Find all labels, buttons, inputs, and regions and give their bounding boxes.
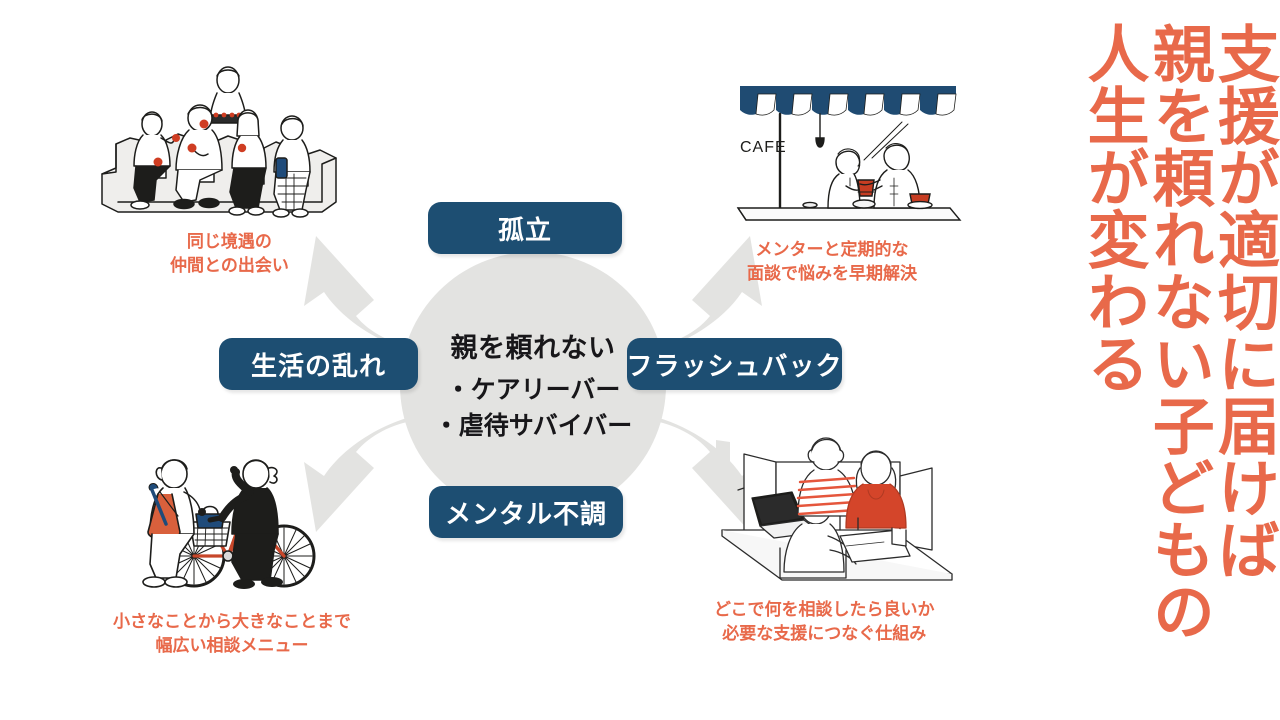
- solution-caption-top-left: 同じ境遇の 仲間との出会い: [170, 230, 289, 278]
- cafe-meeting-illustration: CAFE: [724, 74, 972, 229]
- slide-canvas: CAFE: [0, 0, 1280, 720]
- problem-pill-lifestyle-label: 生活の乱れ: [251, 346, 386, 383]
- solution-caption-top-right-line1: メンターと定期的な: [747, 238, 917, 262]
- problem-pill-flashback-label: フラッシュバック: [627, 346, 843, 383]
- cafe-awning: [740, 86, 956, 115]
- solution-caption-top-right: メンターと定期的な 面談で悩みを早期解決: [747, 238, 917, 286]
- problem-pill-isolation[interactable]: 孤立: [428, 202, 622, 254]
- cafe-sign-text: CAFE: [740, 139, 787, 156]
- solution-caption-top-left-line2: 仲間との出会い: [170, 254, 289, 278]
- people-on-sofa-illustration: [96, 62, 348, 227]
- problem-pill-mental-health-label: メンタル不調: [445, 494, 607, 531]
- central-circle-item-2: ・虐待サバイバー: [434, 408, 633, 444]
- solution-caption-bottom-right-line1: どこで何を相談したら良いか: [714, 598, 935, 622]
- solution-caption-bottom-right: どこで何を相談したら良いか 必要な支援につなぐ仕組み: [714, 598, 935, 646]
- problem-pill-lifestyle[interactable]: 生活の乱れ: [219, 338, 418, 390]
- central-group-circle: 親を頼れない ・ケアリーバー ・虐待サバイバー: [400, 252, 666, 518]
- solution-caption-bottom-left: 小さなことから大きなことまで 幅広い相談メニュー: [113, 610, 351, 658]
- arrow-up-left-icon: [304, 236, 418, 352]
- consultation-desk-illustration: [716, 432, 978, 590]
- central-circle-title: 親を頼れない: [451, 326, 616, 365]
- solution-caption-top-left-line1: 同じ境遇の: [170, 230, 289, 254]
- arrow-up-right-icon: [648, 236, 762, 352]
- solution-caption-bottom-left-line1: 小さなことから大きなことまで: [113, 610, 351, 634]
- solution-caption-top-right-line2: 面談で悩みを早期解決: [747, 262, 917, 286]
- central-circle-item-1: ・ケアリーバー: [446, 372, 621, 408]
- problem-pill-mental-health[interactable]: メンタル不調: [429, 486, 623, 538]
- problem-pill-isolation-label: 孤立: [498, 210, 552, 247]
- bicycle-conversation-illustration: [132, 438, 354, 598]
- problem-pill-flashback[interactable]: フラッシュバック: [627, 338, 842, 390]
- solution-caption-bottom-left-line2: 幅広い相談メニュー: [113, 634, 351, 658]
- solution-caption-bottom-right-line2: 必要な支援につなぐ仕組み: [714, 622, 935, 646]
